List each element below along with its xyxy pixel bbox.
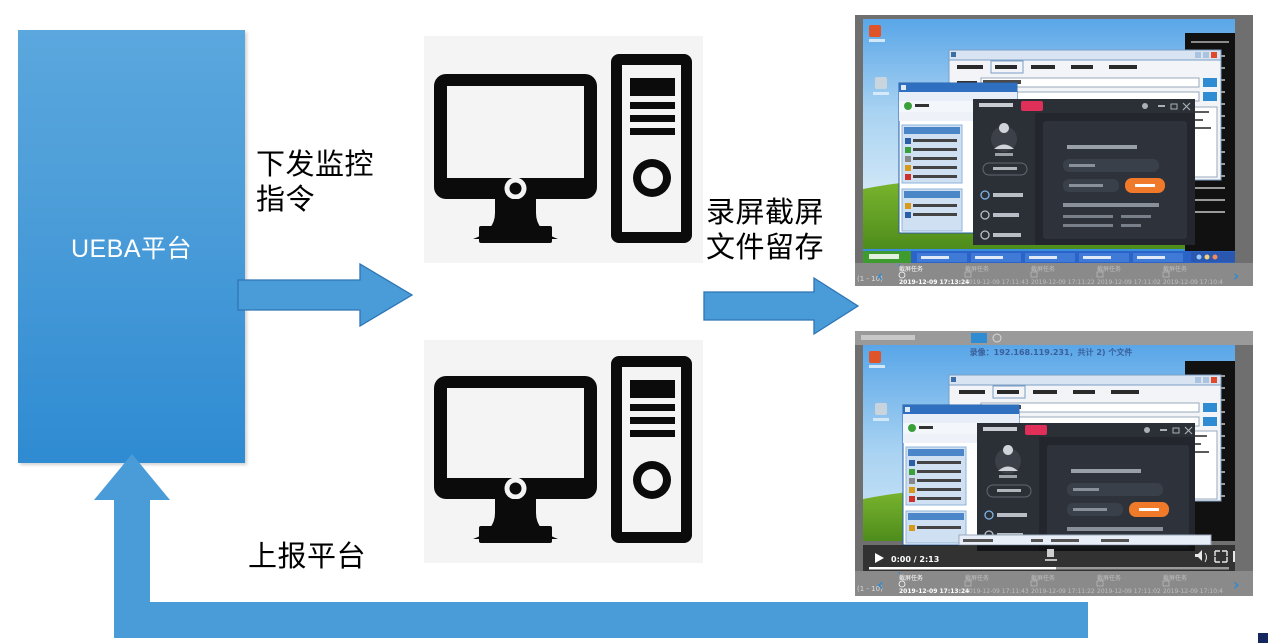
svg-text:2019-12-09 17:11:02: 2019-12-09 17:11:02	[1097, 588, 1161, 595]
svg-text:2019-12-09 17:11:43: 2019-12-09 17:11:43	[965, 279, 1029, 286]
caption-dispatch-command: 下发监控 指令	[256, 148, 374, 219]
svg-text:0:00 / 2:13: 0:00 / 2:13	[891, 555, 939, 564]
svg-text:录像：192.168.119.231，共计 2) 个文件: 录像：192.168.119.231，共计 2) 个文件	[970, 347, 1133, 357]
svg-text:2019-12-09 17:13:24: 2019-12-09 17:13:24	[899, 279, 969, 286]
ueba-platform-box: UEBA平台	[18, 30, 245, 463]
svg-text:2019-12-09 17:10:4: 2019-12-09 17:10:4	[1163, 279, 1223, 286]
desktop-computer-icon	[424, 36, 703, 263]
desktop-computer-icon	[424, 340, 703, 563]
svg-text:2019-12-09 17:11:22: 2019-12-09 17:11:22	[1031, 279, 1095, 286]
svg-text:›: ›	[1233, 267, 1239, 285]
endpoint-computer-bottom	[424, 340, 703, 563]
screenshot-capture-thumbnail[interactable]: (1 - 10) ‹ › 截屏任务 2019-12-09 17:13:24 截屏…	[855, 15, 1253, 286]
arrow-dispatch	[236, 262, 416, 328]
svg-text:2019-12-09 17:10:4: 2019-12-09 17:10:4	[1163, 588, 1223, 595]
svg-text:2019-12-09 17:11:02: 2019-12-09 17:11:02	[1097, 279, 1161, 286]
svg-text:›: ›	[1233, 575, 1240, 594]
caption-report-to-platform: 上报平台	[248, 540, 366, 575]
corner-mark	[1258, 633, 1268, 643]
endpoint-computer-top	[424, 36, 703, 263]
capture-thumbnail-image: (1 - 10) ‹ › 截屏任务 2019-12-09 17:13:24 截屏…	[855, 15, 1253, 286]
svg-text:2019-12-09 17:13:24: 2019-12-09 17:13:24	[899, 588, 969, 595]
arrow-record	[702, 276, 862, 336]
screenshot-recording-thumbnail[interactable]: 录像：192.168.119.231，共计 2) 个文件	[855, 331, 1253, 596]
caption-record-capture-file: 录屏截屏 文件留存	[706, 196, 824, 267]
svg-text:‹: ‹	[877, 267, 883, 285]
ueba-platform-label: UEBA平台	[71, 229, 192, 265]
recording-thumbnail-image: 录像：192.168.119.231，共计 2) 个文件	[855, 331, 1253, 596]
svg-text:2019-12-09 17:11:43: 2019-12-09 17:11:43	[965, 588, 1029, 595]
svg-text:2019-12-09 17:11:22: 2019-12-09 17:11:22	[1031, 588, 1095, 595]
svg-text:‹: ‹	[877, 575, 884, 594]
